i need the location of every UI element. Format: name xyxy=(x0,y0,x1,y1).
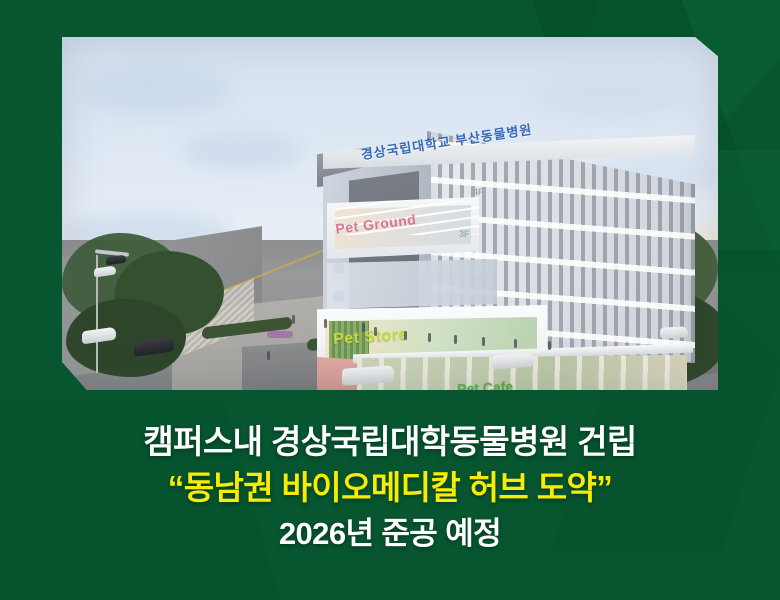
headline-line-1: 캠퍼스내 경상국립대학동물병원 건립 xyxy=(0,422,780,462)
headline-line-2: “동남권 바이오메디칼 허브 도약” xyxy=(0,468,780,508)
headline-line-3: 2026년 준공 예정 xyxy=(0,515,780,553)
poster-root: 경상국립대학교 부산동물병원 Pet Ground 4F 3F 2F Pet S… xyxy=(0,0,780,600)
photo-vignette xyxy=(62,37,718,390)
headline-block: 캠퍼스내 경상국립대학동물병원 건립 “동남권 바이오메디칼 허브 도약” 20… xyxy=(0,410,780,552)
rendering-scene: 경상국립대학교 부산동물병원 Pet Ground 4F 3F 2F Pet S… xyxy=(62,37,718,390)
building-rendering-image: 경상국립대학교 부산동물병원 Pet Ground 4F 3F 2F Pet S… xyxy=(62,37,718,390)
